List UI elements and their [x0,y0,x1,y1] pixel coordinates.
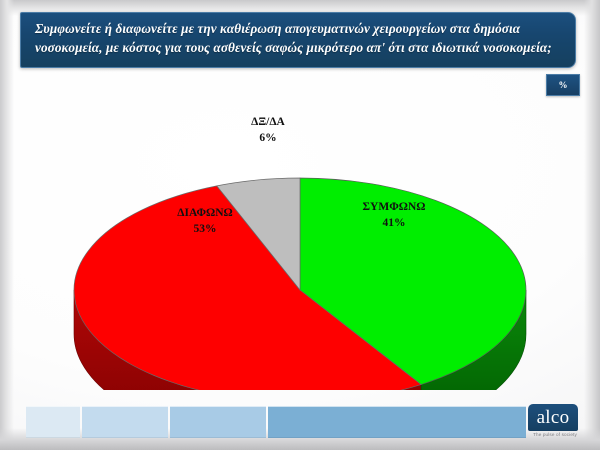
pie-label-agree-value: 41% [383,217,406,229]
pie-label-disagree-value: 53% [194,223,217,235]
pie-chart: ΣΥΜΦΩΝΩ 41% ΔΙΑΦΩΝΩ 53% ΔΞ/ΔΑ 6% [72,98,528,390]
question-banner: Συμφωνείτε ή διαφωνείτε με την καθιέρωση… [20,12,576,68]
pie-label-agree-name: ΣΥΜΦΩΝΩ [363,201,426,213]
footer-bar [0,398,600,450]
question-text: Συμφωνείτε ή διαφωνείτε με την καθιέρωση… [35,19,563,57]
footer-block-4 [268,406,526,438]
slide-edge-right [584,0,600,450]
slide-canvas: Συμφωνείτε ή διαφωνείτε με την καθιέρωση… [0,0,600,450]
percent-badge-label: % [559,80,568,90]
alco-logo-text: alco [537,408,570,427]
slide-edge-left [0,0,14,450]
pie-label-disagree-name: ΔΙΑΦΩΝΩ [177,207,232,219]
footer-block-3 [170,406,266,438]
footer-block-2 [82,406,168,438]
pie-label-dont-know-name: ΔΞ/ΔΑ [251,116,285,128]
pie-label-dont-know-value: 6% [259,132,276,144]
percent-badge: % [546,74,580,96]
alco-tagline: The pulse of society [527,432,583,437]
footer-block-1 [26,406,80,438]
alco-logo: alco [528,404,578,431]
